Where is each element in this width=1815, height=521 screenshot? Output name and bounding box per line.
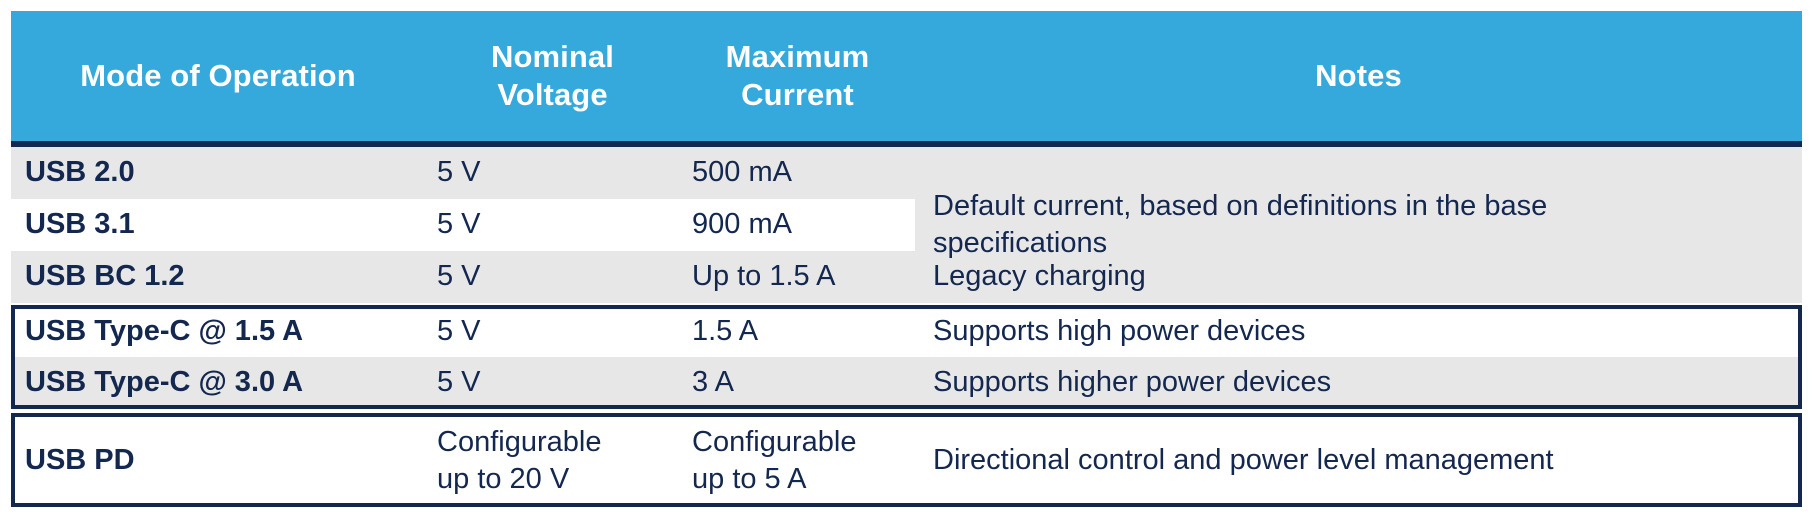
cell-current-usb-pd-line-2: up to 5 A: [692, 463, 807, 495]
cell-current-usb-2-0-value: 500 mA: [692, 154, 792, 191]
cell-mode-type-c-1-5a: USB Type-C @ 1.5 A: [25, 313, 303, 350]
table-row: USB PD: [11, 415, 425, 507]
cell-mode-type-c-3-0a: USB Type-C @ 3.0 A: [25, 364, 303, 401]
nominal-voltage-line-1: Nominal: [491, 39, 614, 74]
column-header-maximum-current: Maximum Current: [680, 11, 915, 141]
cell-voltage-usb-bc-1-2: 5 V: [425, 251, 680, 303]
cell-voltage-type-c-1-5a-value: 5 V: [437, 313, 481, 350]
column-header-nominal-voltage: Nominal Voltage: [425, 11, 680, 141]
cell-voltage-usb-3-1: 5 V: [425, 199, 680, 251]
cell-current-type-c-1-5a-value: 1.5 A: [692, 313, 758, 350]
maximum-current-line-1: Maximum: [726, 39, 870, 74]
cell-voltage-type-c-3-0a: 5 V: [425, 357, 680, 409]
table-row: USB BC 1.2: [11, 251, 425, 303]
table-row: USB Type-C @ 1.5 A: [11, 307, 425, 357]
usb-power-modes-table: Mode of Operation Nominal Voltage Maximu…: [11, 11, 1802, 507]
cell-notes-usb-pd-text: Directional control and power level mana…: [933, 442, 1554, 479]
cell-voltage-usb-pd-line-2: up to 20 V: [437, 463, 569, 495]
cell-notes-usb-pd: Directional control and power level mana…: [915, 415, 1802, 507]
table-row: USB Type-C @ 3.0 A: [11, 357, 425, 409]
maximum-current-line-2: Current: [741, 77, 854, 112]
cell-voltage-usb-pd-line-1: Configurable: [437, 426, 601, 458]
cell-voltage-usb-bc-1-2-value: 5 V: [437, 258, 481, 295]
table-row: USB 3.1: [11, 199, 425, 251]
cell-current-type-c-3-0a-value: 3 A: [692, 364, 734, 401]
cell-mode-usb-pd: USB PD: [25, 442, 135, 479]
nominal-voltage-line-2: Voltage: [497, 77, 607, 112]
column-header-mode-of-operation-label: Mode of Operation: [80, 57, 356, 95]
cell-voltage-usb-3-1-value: 5 V: [437, 206, 481, 243]
column-header-nominal-voltage-label: Nominal Voltage: [491, 38, 614, 114]
cell-voltage-usb-2-0-value: 5 V: [437, 154, 481, 191]
table-header-row: Mode of Operation Nominal Voltage Maximu…: [11, 11, 1802, 147]
cell-voltage-usb-2-0: 5 V: [425, 147, 680, 199]
cell-notes-usb-bc-1-2: Legacy charging: [915, 251, 1802, 303]
cell-current-usb-3-1: 900 mA: [680, 199, 915, 251]
column-header-mode-of-operation: Mode of Operation: [11, 11, 425, 141]
cell-current-usb-bc-1-2-value: Up to 1.5 A: [692, 258, 836, 295]
column-header-maximum-current-label: Maximum Current: [726, 38, 870, 114]
column-header-notes-label: Notes: [1315, 57, 1402, 95]
cell-current-usb-bc-1-2: Up to 1.5 A: [680, 251, 915, 303]
cell-current-usb-pd-line-1: Configurable: [692, 426, 856, 458]
cell-notes-type-c-1-5a-text: Supports high power devices: [933, 313, 1305, 350]
cell-mode-usb-2-0: USB 2.0: [25, 154, 135, 191]
cell-notes-type-c-3-0a: Supports higher power devices: [915, 357, 1802, 409]
cell-current-type-c-1-5a: 1.5 A: [680, 307, 915, 357]
cell-notes-type-c-1-5a: Supports high power devices: [915, 307, 1802, 357]
cell-current-type-c-3-0a: 3 A: [680, 357, 915, 409]
table-body: USB 2.0 5 V 500 mA Default current, base…: [11, 147, 1802, 507]
cell-current-usb-pd: Configurable up to 5 A: [680, 415, 915, 507]
table-row: USB 2.0: [11, 147, 425, 199]
cell-voltage-type-c-3-0a-value: 5 V: [437, 364, 481, 401]
column-header-notes: Notes: [915, 11, 1802, 141]
cell-current-usb-3-1-value: 900 mA: [692, 206, 792, 243]
cell-current-usb-2-0: 500 mA: [680, 147, 915, 199]
cell-notes-type-c-3-0a-text: Supports higher power devices: [933, 364, 1331, 401]
cell-mode-usb-3-1: USB 3.1: [25, 206, 135, 243]
cell-notes-usb-bc-1-2-text: Legacy charging: [933, 258, 1146, 295]
cell-voltage-type-c-1-5a: 5 V: [425, 307, 680, 357]
cell-voltage-usb-pd: Configurable up to 20 V: [425, 415, 680, 507]
cell-mode-usb-bc-1-2: USB BC 1.2: [25, 258, 185, 295]
